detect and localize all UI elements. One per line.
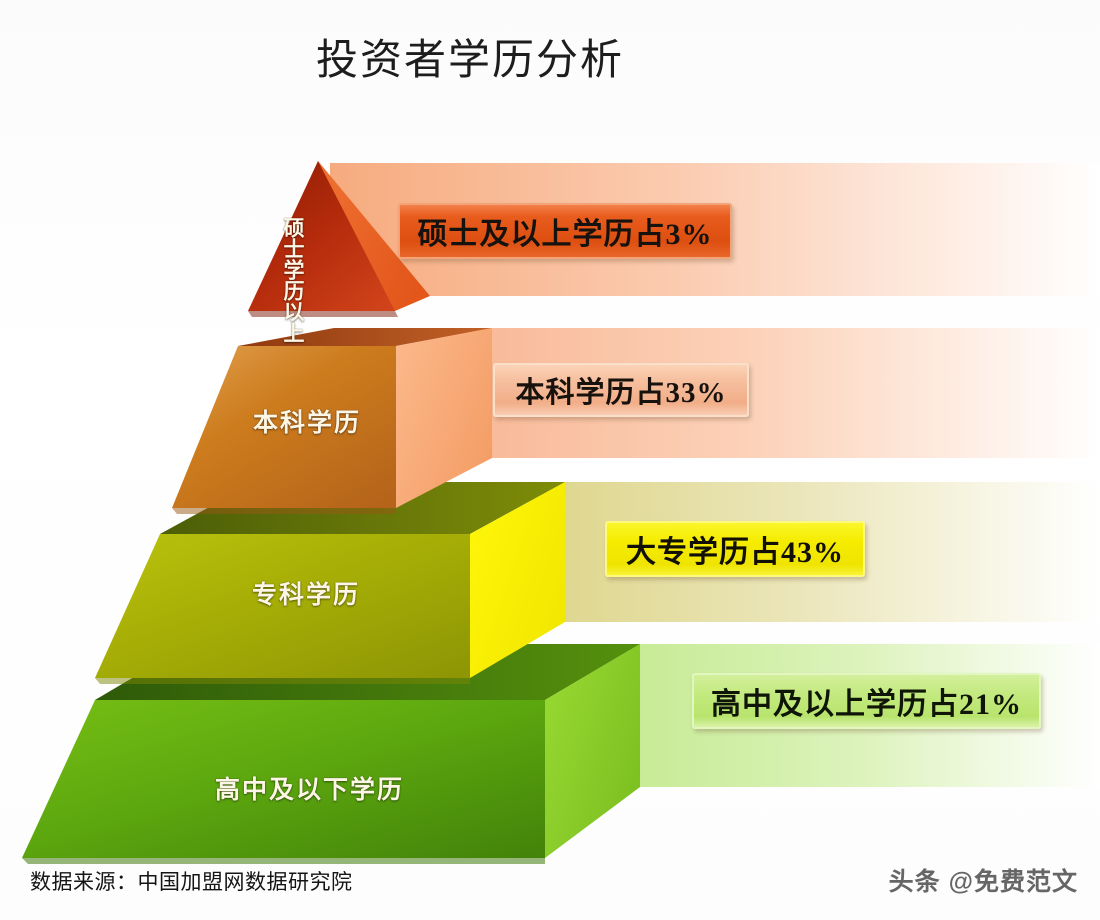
callout-tier-2-text: 本科学历占33% (515, 369, 726, 411)
callout-tier-4-text: 高中及以上学历占21% (711, 679, 1022, 723)
callout-tier-4[interactable]: 高中及以上学历占21% (692, 673, 1041, 729)
callout-tier-1[interactable]: 硕士及以上学历占3% (398, 203, 732, 259)
tier-2-side-face (396, 328, 492, 508)
watermark-label: 头条 @免费范文 (889, 862, 1078, 898)
callout-tier-3[interactable]: 大专学历占43% (605, 521, 865, 577)
tier-3-front-face (95, 534, 470, 678)
data-source-note: 数据来源：中国加盟网数据研究院 (30, 866, 353, 896)
tier-4-front-face (22, 700, 545, 858)
tier-2-front-shadow (172, 508, 396, 514)
callout-tier-3-text: 大专学历占43% (626, 527, 844, 571)
tier-1-front-shadow (248, 311, 398, 317)
callout-tier-2[interactable]: 本科学历占33% (493, 363, 749, 417)
chart-canvas: 投资者学历分析 (0, 0, 1100, 920)
callout-tier-1-text: 硕士及以上学历占3% (418, 209, 713, 253)
tier-4-front-shadow (22, 858, 545, 864)
pyramid-graphic (0, 0, 1100, 920)
tier-3-front-shadow (95, 678, 470, 684)
tier-2-front-face (172, 346, 396, 508)
